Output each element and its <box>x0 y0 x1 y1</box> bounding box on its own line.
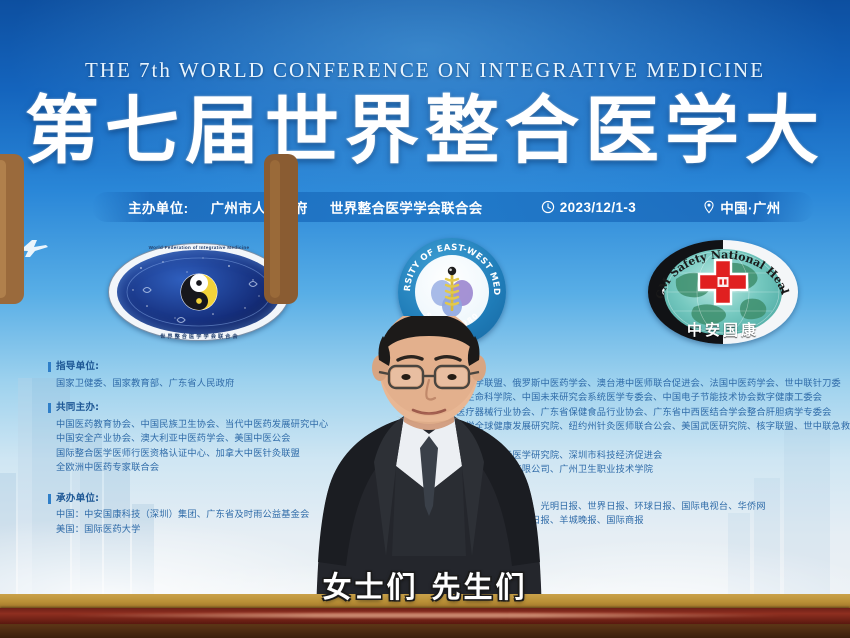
conference-place: 中国·广州 <box>720 197 781 217</box>
clock-icon <box>541 200 555 214</box>
tcm-chinese-name: 中安国康 <box>648 319 798 340</box>
bullet-tick-icon <box>48 362 51 372</box>
desk-sheen <box>60 613 790 618</box>
bullet-tick-icon <box>48 403 51 413</box>
conference-place-group: 中国·广州 <box>702 197 781 217</box>
video-frame: THE 7th WORLD CONFERENCE ON INTEGRATIVE … <box>0 0 850 638</box>
bullet-tick-icon <box>48 494 51 504</box>
conference-date: 2023/12/1-3 <box>560 200 636 215</box>
wfim-text-bottom: 世 界 整 合 医 学 学 会 联 合 会 <box>108 333 290 340</box>
video-subtitle: 女士们 先生们 <box>0 564 850 606</box>
location-pin-icon <box>702 200 716 214</box>
host-organization-2: 世界整合医学学会联合会 <box>330 197 483 217</box>
conference-eyebrow-title: THE 7th WORLD CONFERENCE ON INTEGRATIVE … <box>0 58 850 83</box>
chair <box>0 120 304 330</box>
logo-tcm-safety-national-health[interactable]: TCM Safety National Health 中安国康 <box>648 240 798 344</box>
caduceus-icon <box>425 265 479 319</box>
conference-date-group: 2023/12/1-3 <box>541 200 636 215</box>
svg-text:TCM Safety National Health: TCM Safety National Health <box>648 240 791 300</box>
